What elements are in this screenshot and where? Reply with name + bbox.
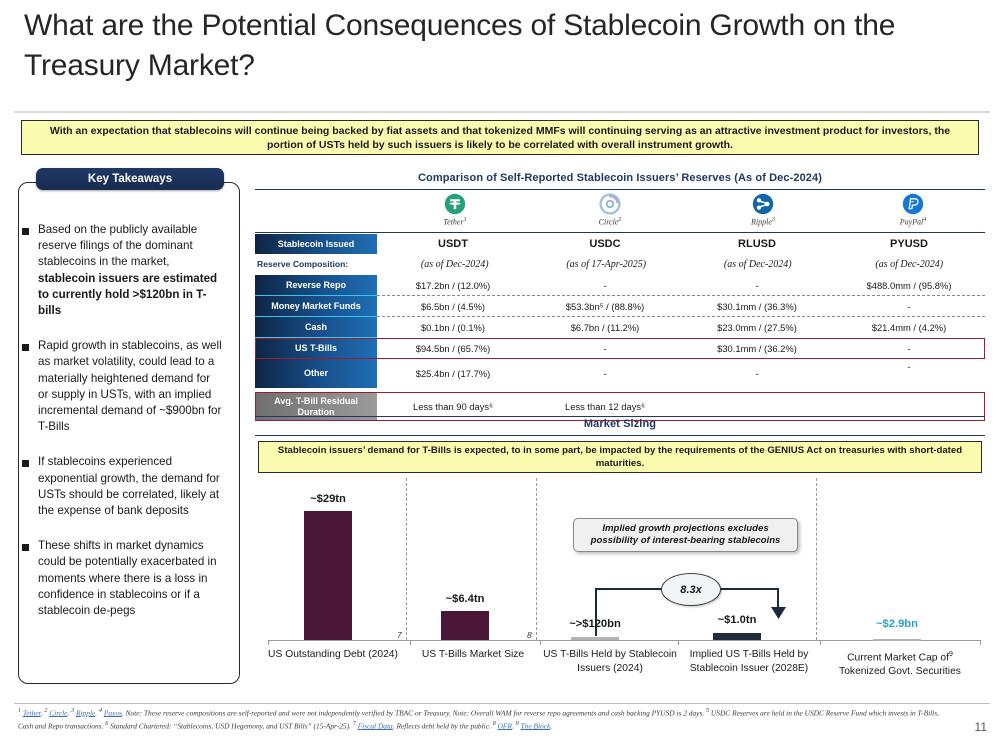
cell: $30.1mm / (36.3%): [681, 296, 833, 317]
issuer-header-tether: Tether1: [395, 192, 515, 227]
market-sizing-title: Market Sizing: [255, 418, 985, 430]
cell: -: [681, 359, 833, 388]
key-takeaway-text-1: Rapid growth in stablecoins, as well as …: [38, 338, 222, 435]
bar-us-tbills-market-size: [441, 611, 489, 640]
footnote-link-fiscal-data[interactable]: Fiscal Data: [358, 721, 393, 730]
axis-tick: [678, 640, 679, 645]
row-cells: $94.5bn / (65.7%) - $30.1mm / (36.2%) -: [377, 338, 985, 359]
table-row: Money Market Funds $6.5bn / (4.5%) $53.3…: [255, 296, 985, 317]
issuer-header-circle: Circle2: [550, 192, 670, 227]
cell: USDT: [377, 234, 529, 254]
row-label-stablecoin-issued: Stablecoin Issued: [255, 234, 377, 254]
market-sizing-callout-box: Stablecoin issuers’ demand for T-Bills i…: [258, 441, 982, 473]
cell: $6.7bn / (11.2%): [529, 317, 681, 338]
ripple-logo-icon: [703, 192, 823, 216]
cell: $30.1mm / (36.2%): [681, 338, 833, 359]
footnote-text-6: Standard Chartered: “Stablecoins, USD He…: [110, 721, 351, 730]
implied-growth-note-box: Implied growth projections excludes poss…: [573, 518, 798, 552]
issuer-name-ripple: Ripple3: [703, 217, 823, 227]
row-cells: $6.5bn / (4.5%) $53.3bn⁵ / (88.8%) $30.1…: [377, 296, 985, 317]
chart-separator-2: [536, 478, 537, 640]
cell: (as of Dec-2024): [379, 254, 531, 275]
cell: USDC: [529, 234, 681, 254]
bullet-icon: [22, 544, 29, 551]
key-takeaways-header: Key Takeaways: [36, 168, 224, 190]
bar-value-label-0: ~$29tn: [280, 493, 376, 505]
issuer-header-ripple: Ripple3: [703, 192, 823, 227]
footnote-link-the-block[interactable]: The Block: [521, 721, 551, 730]
row-cells: $25.4bn / (17.7%) - - -: [377, 359, 985, 388]
footnote-ref-9: 9: [949, 651, 953, 658]
kt-bold-0: stablecoin issuers are estimated to curr…: [38, 272, 217, 317]
table-row: Stablecoin Issued USDT USDC RLUSD PYUSD: [255, 234, 985, 254]
market-sizing-chart: ~$29tn ~$6.4tn ~>$120bn ~$1.0tn ~$2.9bn …: [258, 478, 985, 696]
axis-tick: [820, 640, 821, 645]
issuer-name-circle: Circle2: [550, 217, 670, 227]
list-item: Based on the publicly available reserve …: [22, 222, 234, 319]
page-number: 11: [975, 720, 987, 734]
x-axis-label-0: US Outstanding Debt (2024): [260, 648, 406, 662]
x-axis-label-1: US T-Bills Market Size: [406, 648, 540, 662]
cell: (as of 17-Apr-2025): [531, 254, 683, 275]
cell: $488.0mm / (95.8%): [833, 275, 985, 296]
cell: -: [529, 359, 681, 388]
connector-horizontal-right: [717, 588, 779, 590]
issuer-header-paypal: PayPal4: [853, 192, 973, 227]
reserves-table: Stablecoin Issued USDT USDC RLUSD PYUSD …: [255, 234, 985, 421]
cell: $0.1bn / (0.1%): [377, 317, 529, 338]
cell: $17.2bn / (12.0%): [377, 275, 529, 296]
cell: $53.3bn⁵ / (88.8%): [529, 296, 681, 317]
key-takeaway-text-2: If stablecoins experienced exponential g…: [38, 454, 222, 519]
bar-tbills-held-by-issuers: [571, 637, 619, 640]
chart-separator-3: [816, 478, 817, 640]
footnote-divider: [14, 703, 990, 704]
x-axis-label-2: US T-Bills Held by Stablecoin Issuers (2…: [540, 648, 680, 676]
reserves-top-rule: [255, 189, 985, 190]
issuer-logo-strip: Tether1 Circle2 Ripple3 PayPal4: [255, 192, 985, 234]
chart-separator-1: [406, 478, 407, 640]
row-cells: (as of Dec-2024) (as of 17-Apr-2025) (as…: [379, 254, 985, 275]
tether-logo-icon: [395, 192, 515, 216]
bar-value-label-4: ~$2.9bn: [849, 618, 945, 630]
chart-footnote-7: 7: [397, 630, 402, 640]
cell: -: [833, 338, 985, 359]
bullet-icon: [22, 228, 29, 235]
row-label-reserve-composition: Reserve Composition:: [255, 254, 379, 275]
footnote-link-ripple[interactable]: Ripple: [76, 708, 95, 717]
cell: $94.5bn / (65.7%): [377, 338, 529, 359]
cell: -: [529, 338, 681, 359]
row-label-money-market-funds: Money Market Funds: [255, 296, 377, 317]
cell: $25.4bn / (17.7%): [377, 359, 529, 388]
axis-tick: [410, 640, 411, 645]
row-cells: USDT USDC RLUSD PYUSD: [377, 234, 985, 254]
bullet-icon: [22, 344, 29, 351]
cell: RLUSD: [681, 234, 833, 254]
cell: (as of Dec-2024): [834, 254, 986, 275]
top-callout-box: With an expectation that stablecoins wil…: [21, 120, 979, 155]
cell: -: [833, 359, 985, 388]
cell: (as of Dec-2024): [682, 254, 834, 275]
bar-implied-tbills-2028e: [713, 633, 761, 640]
footnote-link-circle[interactable]: Circle: [49, 708, 67, 717]
cell: $6.5bn / (4.5%): [377, 296, 529, 317]
table-row: Other $25.4bn / (17.7%) - - -: [255, 359, 985, 388]
bar-tokenized-govt-securities: [873, 639, 921, 641]
connector-vertical-left: [595, 588, 597, 636]
list-item: If stablecoins experienced exponential g…: [22, 454, 234, 519]
chart-footnote-8: 8: [527, 630, 532, 640]
circle-logo-icon: [550, 192, 670, 216]
list-item: These shifts in market dynamics could be…: [22, 538, 234, 619]
growth-multiplier-badge: 8.3x: [661, 573, 721, 606]
table-row: Cash $0.1bn / (0.1%) $6.7bn / (11.2%) $2…: [255, 317, 985, 338]
top-callout-text: With an expectation that stablecoins wil…: [32, 124, 968, 152]
row-label-other: Other: [255, 359, 377, 388]
table-row: Reverse Repo $17.2bn / (12.0%) - - $488.…: [255, 275, 985, 296]
cell: $21.4mm / (4.2%): [833, 317, 985, 338]
list-item: Rapid growth in stablecoins, as well as …: [22, 338, 234, 435]
table-row: Reserve Composition: (as of Dec-2024) (a…: [255, 254, 985, 275]
footnote-ref: 3: [772, 217, 775, 223]
x-axis-label-3: Implied US T-Bills Held by Stablecoin Is…: [678, 648, 820, 676]
footnotes: 1 Tether. 2 Circle. 3 Ripple. 4 Paxos. N…: [18, 706, 948, 732]
footnote-note-text: Note: These reserve compositions are sel…: [126, 708, 705, 717]
issuer-name-paypal: PayPal4: [853, 217, 973, 227]
cell: PYUSD: [833, 234, 985, 254]
axis-tick: [540, 640, 541, 645]
axis-tick: [268, 640, 269, 645]
key-takeaway-text-0: Based on the publicly available reserve …: [38, 222, 222, 319]
bar-value-label-1: ~$6.4tn: [417, 593, 513, 605]
key-takeaways-list: Based on the publicly available reserve …: [22, 222, 234, 638]
footnote-ref: 2: [618, 217, 621, 223]
key-takeaway-text-3: These shifts in market dynamics could be…: [38, 538, 222, 619]
row-label-reverse-repo: Reverse Repo: [255, 275, 377, 296]
cell: -: [529, 275, 681, 296]
cell: -: [681, 275, 833, 296]
table-row-highlighted: US T-Bills $94.5bn / (65.7%) - $30.1mm /…: [255, 338, 985, 359]
x-axis-label-4: Current Market Cap of9Tokenized Govt. Se…: [820, 648, 980, 679]
row-cells: $17.2bn / (12.0%) - - $488.0mm / (95.8%): [377, 275, 985, 296]
row-label-cash: Cash: [255, 317, 377, 338]
slide-root: What are the Potential Consequences of S…: [0, 0, 1005, 747]
footnote-text-7b: . Reflects debt held by the public.: [393, 721, 491, 730]
footnote-ref: 1: [464, 217, 467, 223]
kt-plain-0: Based on the publicly available reserve …: [38, 223, 197, 268]
market-sizing-bottom-rule: [255, 435, 985, 436]
axis-tick: [980, 640, 981, 645]
reserves-section-title: Comparison of Self-Reported Stablecoin I…: [255, 172, 985, 184]
row-cells: $0.1bn / (0.1%) $6.7bn / (11.2%) $23.0mm…: [377, 317, 985, 338]
page-title: What are the Potential Consequences of S…: [24, 6, 974, 86]
row-label-us-t-bills: US T-Bills: [255, 338, 377, 359]
cell: -: [833, 296, 985, 317]
footnote-link-ofr[interactable]: OFR: [498, 721, 512, 730]
cell: $23.0mm / (27.5%): [681, 317, 833, 338]
issuer-name-tether: Tether1: [395, 217, 515, 227]
bullet-icon: [22, 460, 29, 467]
footnote-ref: 4: [923, 217, 926, 223]
market-sizing-callout-text: Stablecoin issuers’ demand for T-Bills i…: [273, 444, 967, 470]
footnote-link-tether[interactable]: Tether: [23, 708, 41, 717]
paypal-logo-icon: [853, 192, 973, 216]
arrow-head-icon: [770, 606, 788, 620]
title-divider: [14, 111, 990, 113]
footnote-link-paxos[interactable]: Paxos: [104, 708, 122, 717]
connector-horizontal-left: [595, 588, 663, 590]
bar-us-outstanding-debt: [304, 511, 352, 640]
